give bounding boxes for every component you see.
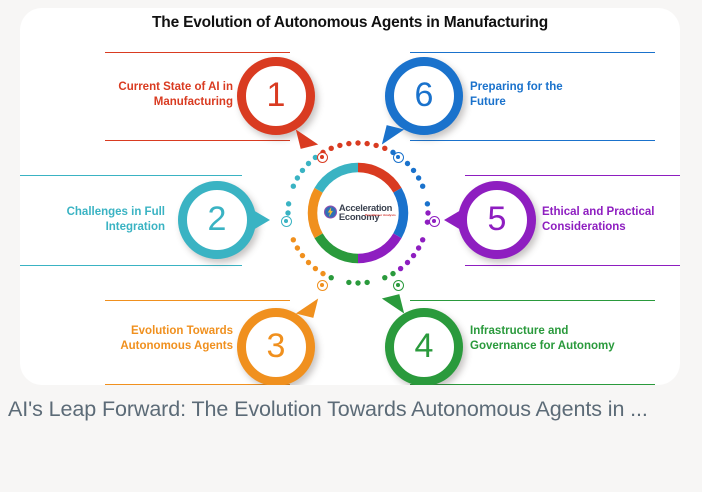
item-1-rule-top <box>105 52 290 53</box>
ring-dot <box>329 275 334 280</box>
ring-dot <box>291 237 296 242</box>
connector-marker-3 <box>317 280 328 291</box>
item-6-rule-bottom <box>410 140 655 141</box>
ring-dot <box>416 245 421 250</box>
infographic-item-2[interactable]: Challenges in Full Integration 2 <box>20 173 320 278</box>
item-2-number: 2 <box>178 181 256 259</box>
item-4-rule-top <box>410 300 655 301</box>
item-2-rule-bottom <box>20 265 242 266</box>
caption-text: AI's Leap Forward: The Evolution Towards… <box>8 393 668 426</box>
ring-dot <box>355 280 360 285</box>
ring-dot <box>295 245 300 250</box>
item-5-number: 5 <box>458 181 536 259</box>
ring-dot <box>390 271 395 276</box>
infographic-card: The Evolution of Autonomous Agents in Ma… <box>20 8 680 385</box>
ring-dot <box>295 175 300 180</box>
ring-dot <box>425 210 430 215</box>
ring-dot <box>382 146 387 151</box>
hub-segment <box>358 168 397 191</box>
lightning-bolt-icon <box>324 205 337 219</box>
hub-segment <box>319 168 358 191</box>
item-1-number: 1 <box>237 57 315 135</box>
ring-dot <box>420 184 425 189</box>
item-4-label: Infrastructure and Governance for Autono… <box>470 324 635 354</box>
ring-dot <box>373 143 378 148</box>
ring-dot <box>285 210 290 215</box>
item-2-number-bubble[interactable]: 2 <box>178 181 256 259</box>
logo-subtext: Practitioner Analysis <box>365 214 396 218</box>
item-4-number-bubble[interactable]: 4 <box>385 308 463 385</box>
item-3-rule-top <box>105 300 290 301</box>
item-2-label: Challenges in Full Integration <box>30 205 165 235</box>
item-5-rule-top <box>465 175 680 176</box>
logo-subtext-line-1: Practitioner <box>365 213 382 217</box>
hub-segment <box>397 190 403 236</box>
ring-dot <box>416 175 421 180</box>
ring-dot <box>291 184 296 189</box>
infographic-item-5[interactable]: Ethical and Practical Considerations 5 <box>440 173 680 278</box>
infographic-item-3[interactable]: Evolution Towards Autonomous Agents 3 <box>20 296 350 385</box>
ring-dot <box>364 141 369 146</box>
item-5-number-bubble[interactable]: 5 <box>458 181 536 259</box>
item-5-label: Ethical and Practical Considerations <box>542 205 680 235</box>
hub-segment <box>319 236 358 259</box>
ring-dot <box>364 280 369 285</box>
item-5-rule-bottom <box>465 265 680 266</box>
ring-dot <box>346 280 351 285</box>
item-1-number-bubble[interactable]: 1 <box>237 57 315 135</box>
connector-marker-5 <box>429 216 440 227</box>
ring-dot <box>355 140 360 145</box>
connector-marker-2 <box>281 216 292 227</box>
item-6-rule-top <box>410 52 655 53</box>
ring-dot <box>346 141 351 146</box>
ring-dot <box>382 275 387 280</box>
hub-segment <box>313 190 319 236</box>
item-3-number-bubble[interactable]: 3 <box>237 308 315 385</box>
ring-dot <box>337 143 342 148</box>
item-1-label: Current State of AI in Manufacturing <box>85 80 233 110</box>
ring-dot <box>425 201 430 206</box>
item-6-number: 6 <box>385 57 463 135</box>
hub-segment <box>358 236 397 259</box>
ring-dot <box>320 271 325 276</box>
ring-dot <box>420 237 425 242</box>
infographic-item-4[interactable]: Infrastructure and Governance for Autono… <box>350 296 680 385</box>
item-1-rule-bottom <box>105 140 290 141</box>
item-6-label: Preparing for the Future <box>470 80 600 110</box>
item-3-label: Evolution Towards Autonomous Agents <box>85 324 233 354</box>
logo-subtext-line-2: Analysis <box>383 213 396 217</box>
page-title: The Evolution of Autonomous Agents in Ma… <box>20 14 680 32</box>
connector-marker-4 <box>393 280 404 291</box>
ring-dot <box>286 201 291 206</box>
central-hub: Acceleration Economy Practitioner Analys… <box>303 158 413 268</box>
ring-dot <box>329 146 334 151</box>
item-6-number-bubble[interactable]: 6 <box>385 57 463 135</box>
acceleration-economy-logo: Acceleration Economy Practitioner Analys… <box>319 192 397 232</box>
item-4-number: 4 <box>385 308 463 385</box>
item-2-rule-top <box>20 175 242 176</box>
item-3-number: 3 <box>237 308 315 385</box>
